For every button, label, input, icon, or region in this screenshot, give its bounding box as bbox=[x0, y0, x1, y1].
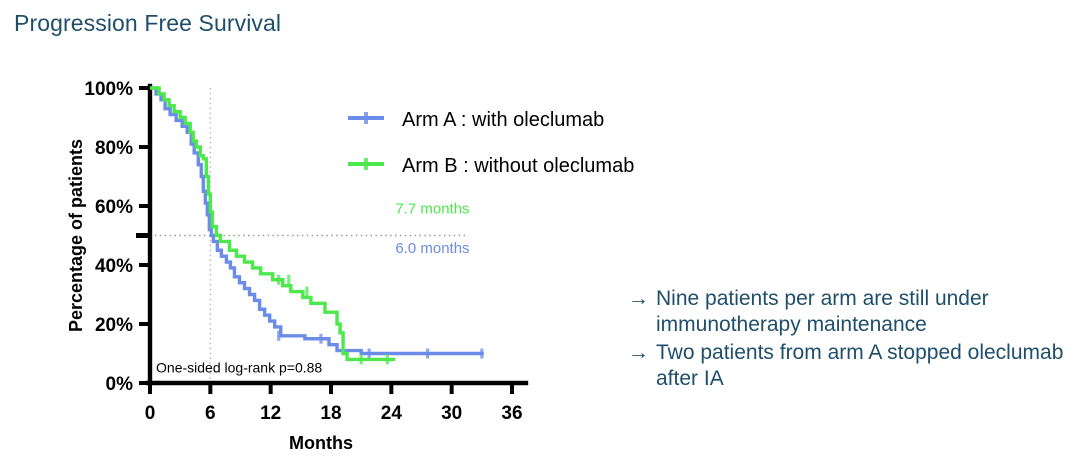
y-axis-tick-label: 20% bbox=[95, 315, 133, 336]
x-axis-tick-label: 24 bbox=[381, 403, 403, 424]
x-axis-tick-label: 0 bbox=[145, 403, 156, 424]
y-axis-tick-label: 80% bbox=[95, 138, 133, 159]
list-item: → Nine patients per arm are still under … bbox=[628, 286, 1078, 339]
x-axis-tick-label: 12 bbox=[260, 403, 281, 424]
median-label-arm-a: 6.0 months bbox=[395, 240, 469, 257]
x-axis-title: Months bbox=[289, 433, 353, 453]
arrow-right-icon: → bbox=[628, 340, 649, 366]
page-title: Progression Free Survival bbox=[14, 10, 281, 37]
kaplan-meier-chart: 0%20%40%60%80%100%061218243036MonthsPerc… bbox=[0, 60, 640, 460]
y-axis-tick-label: 40% bbox=[95, 256, 133, 277]
y-axis-tick-label: 100% bbox=[84, 79, 133, 100]
y-axis-tick-label: 0% bbox=[106, 374, 134, 395]
notes-list: → Nine patients per arm are still under … bbox=[628, 286, 1078, 393]
list-item: → Two patients from arm A stopped oleclu… bbox=[628, 340, 1078, 393]
y-axis-tick-label: 60% bbox=[95, 197, 133, 218]
x-axis-tick-label: 36 bbox=[501, 403, 522, 424]
y-axis-title: Percentage of patients bbox=[66, 139, 86, 332]
legend-label-arm-b: Arm B : without oleclumab bbox=[402, 155, 634, 177]
x-axis-tick-label: 18 bbox=[320, 403, 341, 424]
x-axis-tick-label: 30 bbox=[441, 403, 462, 424]
note-text: Two patients from arm A stopped olecluma… bbox=[656, 340, 1078, 393]
p-value-annotation: One-sided log-rank p=0.88 bbox=[156, 360, 322, 376]
chart-canvas: 0%20%40%60%80%100%061218243036MonthsPerc… bbox=[0, 60, 640, 460]
note-text: Nine patients per arm are still under im… bbox=[656, 286, 1078, 339]
median-label-arm-b: 7.7 months bbox=[395, 200, 469, 217]
x-axis-tick-label: 6 bbox=[205, 403, 216, 424]
arrow-right-icon: → bbox=[628, 286, 649, 312]
legend-label-arm-a: Arm A : with oleclumab bbox=[402, 109, 604, 131]
